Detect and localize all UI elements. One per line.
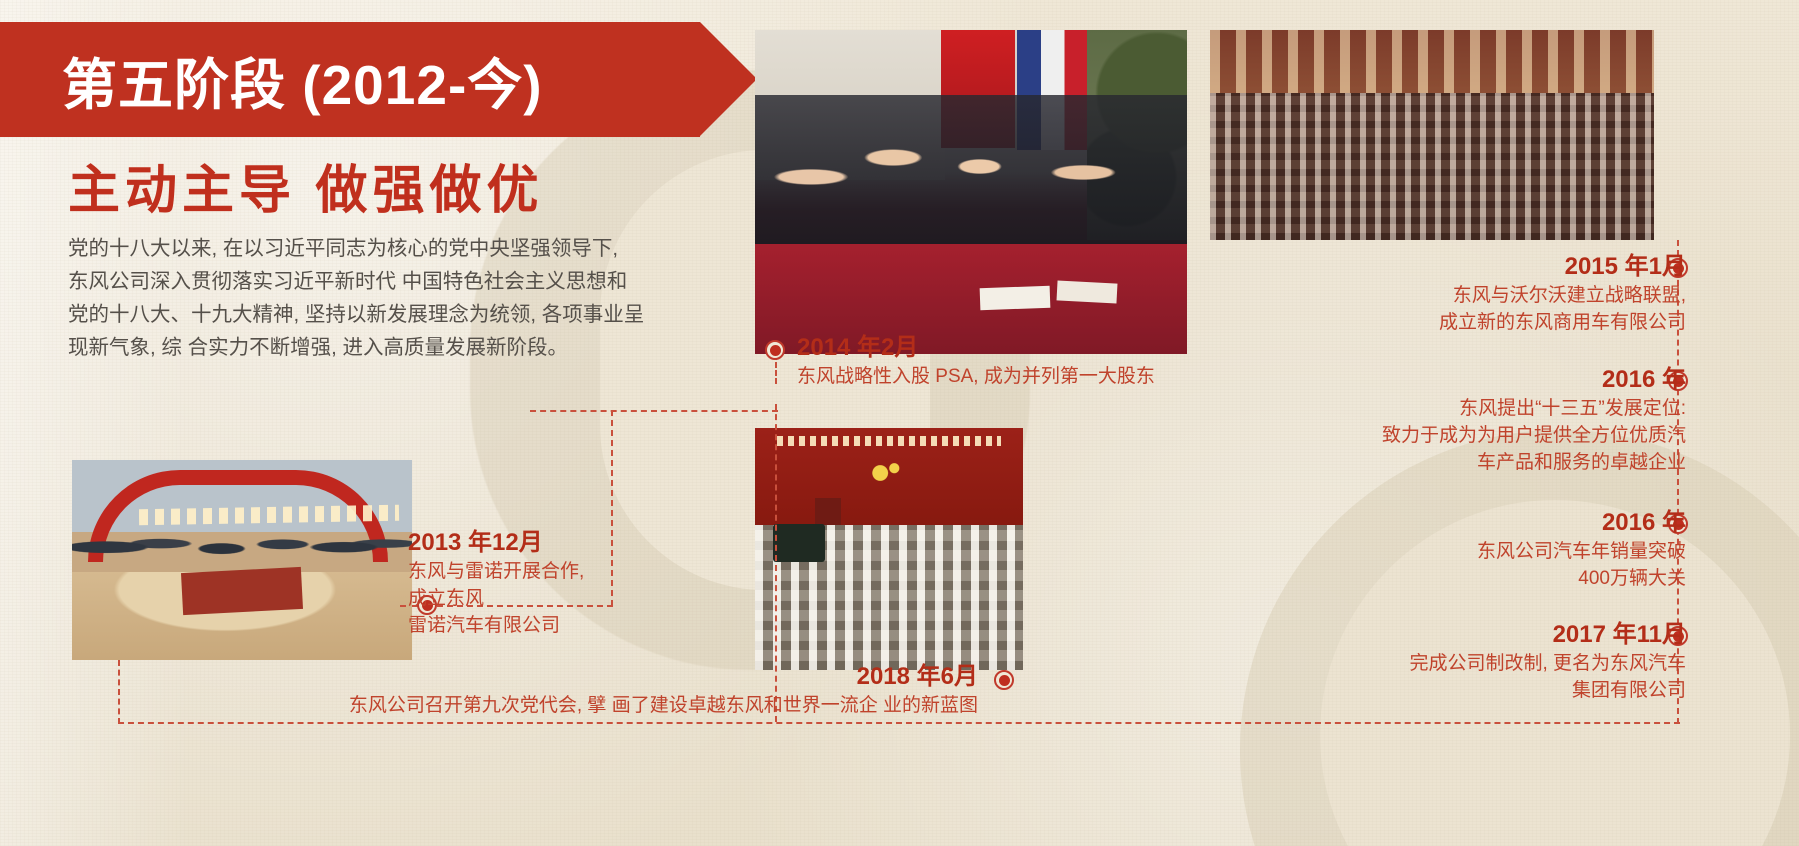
- event-2016-strategy-desc-2: 致力于成为为用户提供全方位优质汽: [1382, 422, 1686, 449]
- event-2015-desc-1: 东风与沃尔沃建立战略联盟,: [1439, 282, 1686, 309]
- connector-2013-top: [530, 410, 778, 412]
- photo-psa-signing-ceremony: [755, 30, 1187, 354]
- intro-paragraph: 党的十八大以来, 在以习近平同志为核心的党中央坚强领导下, 东风公司深入贯彻落实…: [68, 232, 716, 364]
- event-2013[interactable]: 2013 年12月 东风与雷诺开展合作, 成立东风 雷诺汽车有限公司: [408, 528, 584, 639]
- event-2018-desc-1: 东风公司召开第九次党代会, 擘 画了建设卓越东风和世界一流企 业的新蓝图: [318, 692, 978, 719]
- event-2017[interactable]: 2017 年11月 完成公司制改制, 更名为东风汽车 集团有限公司: [1409, 620, 1686, 704]
- event-2017-date: 2017 年11月: [1409, 620, 1686, 650]
- event-2016-strategy[interactable]: 2016 年 东风提出“十三五”发展定位: 致力于成为为用户提供全方位优质汽 车…: [1382, 365, 1686, 476]
- photo-conference-hall: [1210, 30, 1654, 240]
- event-2016-strategy-desc-1: 东风提出“十三五”发展定位:: [1382, 395, 1686, 422]
- photo-renault-groundbreaking: [72, 460, 412, 660]
- intro-line-1: 党的十八大以来, 在以习近平同志为核心的党中央坚强领导下,: [68, 232, 716, 265]
- page-headline: 主动主导 做强做优: [68, 148, 543, 223]
- event-2013-desc-2: 成立东风: [408, 585, 584, 612]
- event-2018[interactable]: 2018 年6月 东风公司召开第九次党代会, 擘 画了建设卓越东风和世界一流企 …: [318, 662, 978, 719]
- banner-title: 第五阶段 (2012-今): [0, 40, 543, 120]
- event-2017-desc-1: 完成公司制改制, 更名为东风汽车: [1409, 650, 1686, 677]
- intro-line-2: 东风公司深入贯彻落实习近平新时代 中国特色社会主义思想和: [68, 265, 716, 298]
- event-2016-strategy-desc-3: 车产品和服务的卓越企业: [1382, 449, 1686, 476]
- timeline-dot-2014[interactable]: [765, 340, 785, 360]
- event-2014-desc-1: 东风战略性入股 PSA, 成为并列第一大股东: [797, 363, 1155, 390]
- event-2014[interactable]: 2014 年2月 东风战略性入股 PSA, 成为并列第一大股东: [797, 333, 1155, 390]
- event-2017-desc-2: 集团有限公司: [1409, 677, 1686, 704]
- event-2016-sales-date: 2016 年: [1477, 508, 1686, 538]
- event-2013-desc-3: 雷诺汽车有限公司: [408, 612, 584, 639]
- event-2013-date: 2013 年12月: [408, 528, 584, 558]
- timeline-dot-2018[interactable]: [994, 670, 1014, 690]
- event-2016-sales-desc-1: 东风公司汽车年销量突破: [1477, 538, 1686, 565]
- event-2016-sales-desc-2: 400万辆大关: [1477, 565, 1686, 592]
- connector-2013-riser: [611, 410, 613, 606]
- connector-bottom-rail: [118, 722, 1680, 724]
- event-2015[interactable]: 2015 年1月 东风与沃尔沃建立战略联盟, 成立新的东风商用车有限公司: [1439, 252, 1686, 336]
- event-2016-sales[interactable]: 2016 年 东风公司汽车年销量突破 400万辆大关: [1477, 508, 1686, 592]
- photo-ninth-party-congress: [755, 428, 1023, 670]
- event-2016-strategy-date: 2016 年: [1382, 365, 1686, 395]
- intro-line-3: 党的十八大、十九大精神, 坚持以新发展理念为统领, 各项事业呈: [68, 298, 716, 331]
- event-2015-desc-2: 成立新的东风商用车有限公司: [1439, 309, 1686, 336]
- event-2014-date: 2014 年2月: [797, 333, 1155, 363]
- intro-line-4: 现新气象, 综 合实力不断增强, 进入高质量发展新阶段。: [68, 331, 716, 364]
- event-2015-date: 2015 年1月: [1439, 252, 1686, 282]
- connector-bottom-left-riser: [118, 660, 120, 724]
- event-2018-date: 2018 年6月: [318, 662, 978, 692]
- stage-banner: 第五阶段 (2012-今): [0, 22, 700, 137]
- event-2013-desc-1: 东风与雷诺开展合作,: [408, 558, 584, 585]
- infographic-canvas: 第五阶段 (2012-今) 主动主导 做强做优 党的十八大以来, 在以习近平同志…: [0, 0, 1799, 846]
